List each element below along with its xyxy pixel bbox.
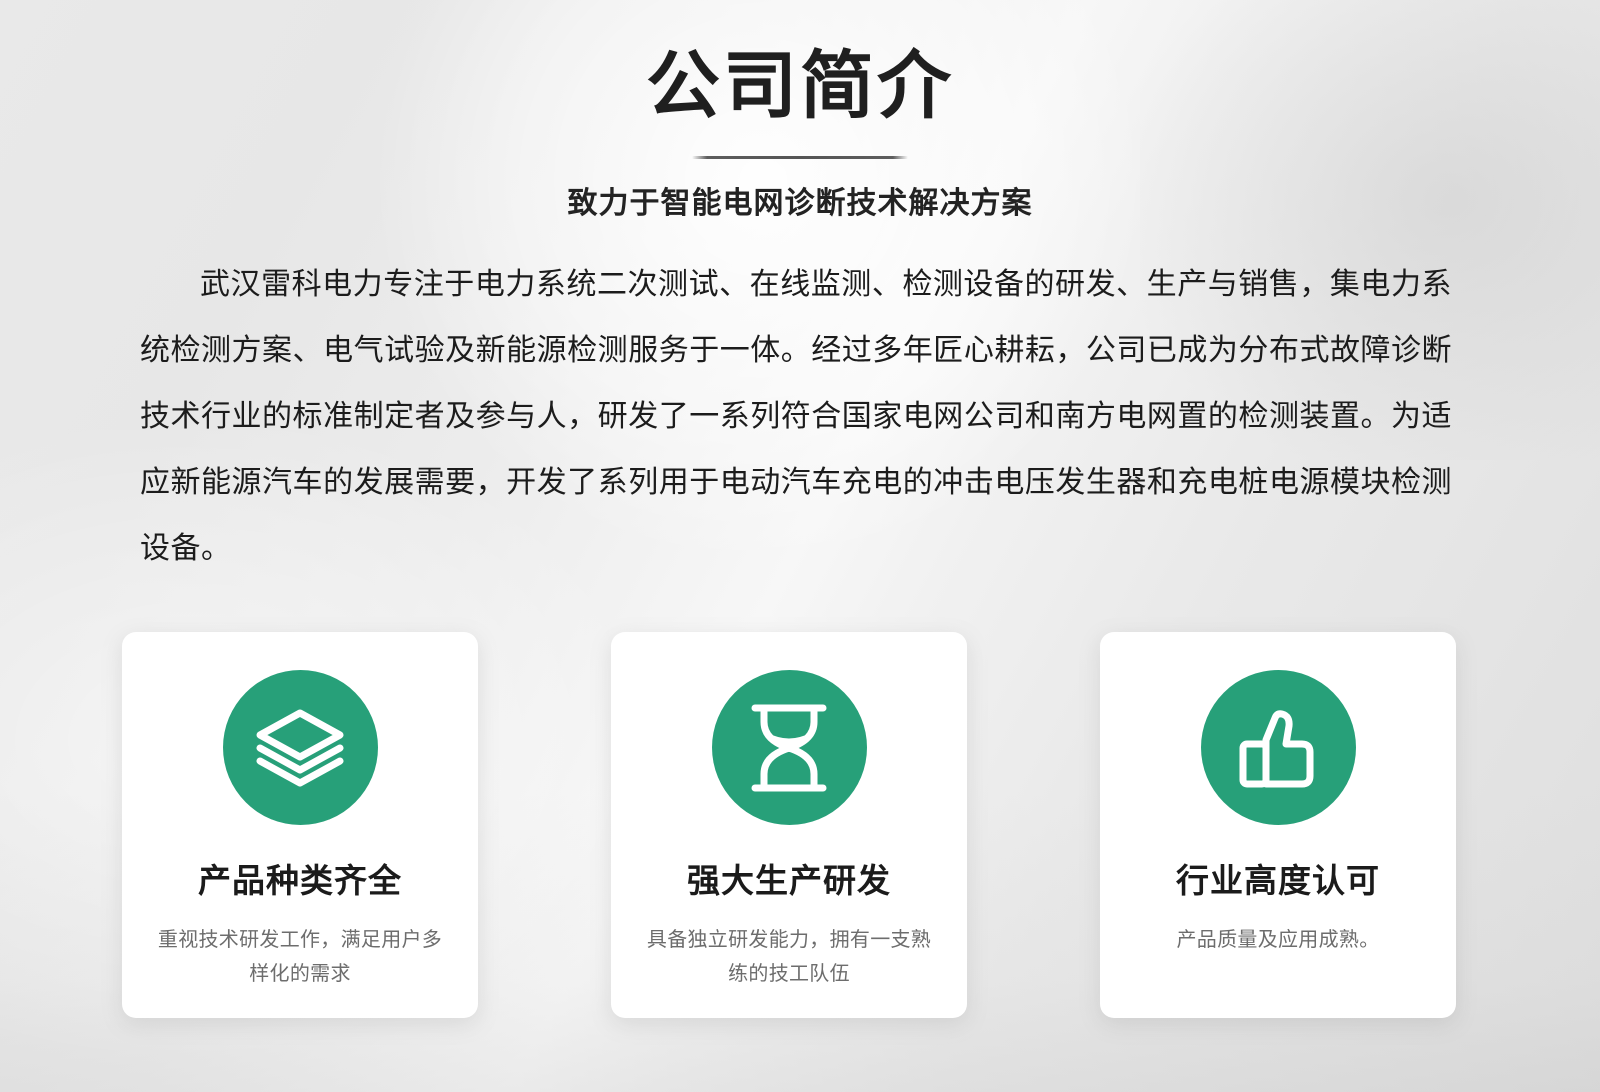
feature-card-title: 强大生产研发 — [687, 861, 891, 901]
layers-icon — [223, 670, 378, 825]
feature-card-description: 具备独立研发能力，拥有一支熟练的技工队伍 — [644, 923, 934, 991]
feature-card-list: 产品种类齐全 重视技术研发工作，满足用户多样化的需求 强大生 — [122, 632, 1456, 1018]
page-subtitle: 致力于智能电网诊断技术解决方案 — [0, 185, 1600, 223]
thumbs-up-icon — [1201, 670, 1356, 825]
feature-card-industry-recognition[interactable]: 行业高度认可 产品质量及应用成熟。 — [1100, 632, 1456, 1018]
feature-card-description: 产品质量及应用成熟。 — [1133, 923, 1423, 957]
feature-card-product-range[interactable]: 产品种类齐全 重视技术研发工作，满足用户多样化的需求 — [122, 632, 478, 1018]
feature-card-description: 重视技术研发工作，满足用户多样化的需求 — [155, 923, 445, 991]
feature-card-rnd-capability[interactable]: 强大生产研发 具备独立研发能力，拥有一支熟练的技工队伍 — [611, 632, 967, 1018]
page-title: 公司简介 — [0, 44, 1600, 128]
section-header: 公司简介 致力于智能电网诊断技术解决方案 — [0, 44, 1600, 223]
company-intro-paragraph: 武汉雷科电力专注于电力系统二次测试、在线监测、检测设备的研发、生产与销售，集电力… — [140, 252, 1452, 582]
feature-card-title: 产品种类齐全 — [198, 861, 402, 901]
title-divider — [692, 156, 908, 159]
company-profile-page: 公司简介 致力于智能电网诊断技术解决方案 武汉雷科电力专注于电力系统二次测试、在… — [0, 0, 1600, 1092]
feature-card-title: 行业高度认可 — [1176, 861, 1380, 901]
page-content: 公司简介 致力于智能电网诊断技术解决方案 武汉雷科电力专注于电力系统二次测试、在… — [0, 0, 1600, 1092]
hourglass-icon — [712, 670, 867, 825]
